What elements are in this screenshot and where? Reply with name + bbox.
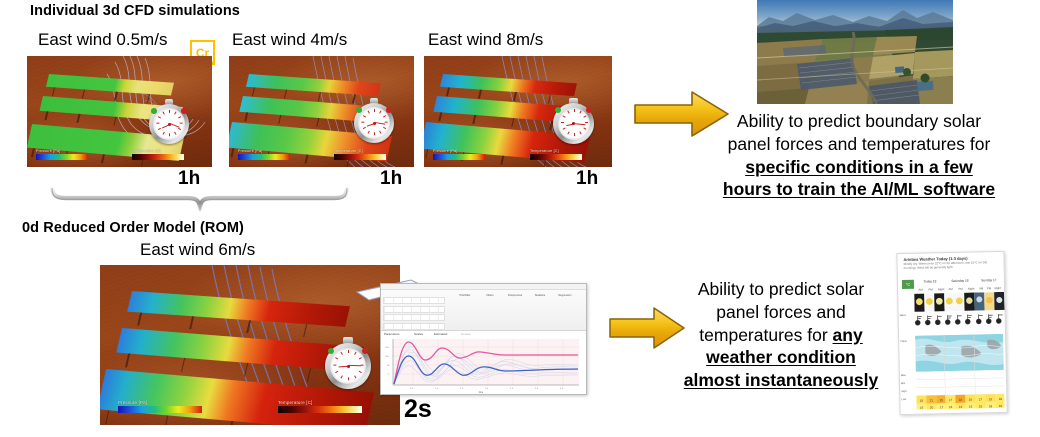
svg-text:-: -	[960, 375, 961, 378]
weather-sky-icons-row	[914, 292, 1004, 314]
svg-text:0: 0	[388, 374, 390, 376]
svg-text:15: 15	[979, 404, 983, 408]
rom-colorbar-pressure: Pressure [Pa]	[118, 400, 202, 413]
outcome-rom-line-4: weather condition	[706, 347, 856, 367]
rom-runtime-label: 2s	[404, 395, 432, 424]
svg-text:Press: Press	[900, 339, 907, 343]
case-label-1: East wind 0.5m/s	[38, 30, 167, 50]
weather-wind-icons-row	[913, 312, 1005, 328]
svg-text:20: 20	[940, 398, 944, 402]
svg-text:1.0: 1.0	[435, 388, 439, 390]
svg-text:-: -	[941, 383, 942, 386]
colorbar-pressure-1: Pressure [Pa]	[36, 149, 88, 160]
weather-day-1: Saturday 18	[946, 279, 974, 284]
svg-text:2.0: 2.0	[485, 388, 489, 390]
cfd-render-3: Pressure [Pa] Temperature [C]	[424, 56, 612, 167]
svg-text:100: 100	[385, 356, 389, 358]
svg-text:Min: Min	[901, 381, 906, 385]
svg-text:-: -	[961, 383, 962, 386]
outcome-rom-line-5: almost instantaneously	[684, 370, 879, 390]
weather-card-subtitle: Mostly dry. Warm (max 22°C on Fri aftern…	[904, 260, 1000, 270]
outcome-rom-line-3: temperatures for	[699, 325, 832, 345]
svg-text:19: 19	[920, 399, 924, 403]
cfd-render-2: Pressure [Pa] Temperature [C]	[229, 56, 414, 167]
weather-period-0-night: Night	[936, 287, 946, 291]
ods-plot-panel: 150100 500 0.51.0 1.52.0 2.53.0 3.5 time	[381, 337, 586, 394]
ods-ribbon-group-0[interactable]: Plot/Filter	[453, 294, 477, 297]
svg-text:-: -	[991, 382, 992, 385]
rom-stopwatch-icon	[325, 343, 371, 389]
weather-period-1-am: AM	[946, 287, 955, 291]
svg-text:3.0: 3.0	[535, 388, 539, 390]
rom-colorbar-temperature-gradient	[278, 406, 362, 413]
weather-forecast-card: Arinbea Weather Today (1-3 days) Mostly …	[896, 251, 1007, 415]
svg-text:2.5: 2.5	[510, 388, 514, 390]
ods-application-window[interactable]: Plot/Filter Filters Postprocess Statisti…	[380, 283, 587, 395]
outcome-rom-line-3-emphasis: any	[833, 325, 863, 345]
colorbar-pressure-label-1: Pressure [Pa]	[36, 149, 88, 153]
svg-text:Wind: Wind	[900, 313, 907, 317]
svg-text:50: 50	[387, 365, 390, 367]
svg-text:Max: Max	[901, 373, 907, 377]
colorbar-temperature-gradient-2	[334, 154, 386, 160]
stopwatch-icon-1	[149, 104, 189, 144]
ods-chart-x-axis-label: time	[479, 391, 484, 394]
outcome-cfd-line-3: specific conditions in a few	[745, 157, 973, 177]
svg-text:-: -	[970, 375, 971, 378]
svg-text:-: -	[951, 383, 952, 386]
colorbar-pressure-gradient-2	[238, 154, 290, 160]
ods-tab-curves[interactable]: Curves	[461, 332, 471, 336]
colorbar-pressure-2: Pressure [Pa]	[238, 149, 290, 160]
colorbar-pressure-gradient-3	[433, 154, 485, 160]
outcome-text-cfd: Ability to predict boundary solar panel …	[700, 110, 1018, 201]
ods-tab-scales[interactable]: Scales	[414, 332, 423, 336]
colorbar-pressure-gradient-1	[36, 154, 88, 160]
svg-text:16: 16	[949, 405, 953, 409]
svg-text:150: 150	[385, 347, 389, 349]
ods-tab-parameters[interactable]: Parameters	[384, 332, 400, 336]
aerial-solar-farm-photo	[757, 0, 953, 104]
weather-period-0-am: AM	[916, 288, 925, 292]
ods-tab-estimated[interactable]: Estimated	[434, 332, 447, 336]
svg-text:-: -	[921, 384, 922, 387]
stopwatch-icon-3	[553, 103, 594, 144]
ods-ribbon-group-4[interactable]: Regression	[553, 294, 577, 297]
svg-text:18: 18	[999, 397, 1003, 401]
rom-colorbar-temperature: Temperature [C]	[278, 400, 362, 413]
colorbar-temperature-label-1: Temperature [C]	[132, 149, 184, 153]
colorbar-temperature-label-3: Temperature [C]	[530, 149, 582, 153]
weather-pressure-map	[915, 334, 1004, 372]
section-title-rom: 0d Reduced Order Model (ROM)	[22, 220, 244, 236]
weather-card-header: Arinbea Weather Today (1-3 days) Mostly …	[903, 255, 999, 270]
ods-ribbon-group-1[interactable]: Filters	[479, 294, 501, 297]
svg-text:0.5: 0.5	[410, 388, 414, 390]
case-label-3: East wind 8m/s	[428, 30, 543, 50]
svg-text:-: -	[950, 375, 951, 378]
ods-response-chart: 150100 500 0.51.0 1.52.0 2.53.0 3.5 time	[381, 337, 586, 394]
colorbar-pressure-label-3: Pressure [Pa]	[433, 149, 485, 153]
svg-text:17: 17	[940, 405, 944, 409]
rom-colorbar-temperature-label: Temperature [C]	[278, 400, 362, 405]
svg-text:-: -	[981, 382, 982, 385]
svg-text:-: -	[990, 374, 991, 377]
colorbar-temperature-2: Temperature [C]	[334, 149, 386, 160]
svg-text:3.5: 3.5	[560, 388, 564, 390]
weather-day-0: Today 18	[916, 279, 944, 284]
svg-text:16: 16	[969, 405, 973, 409]
svg-text:21: 21	[930, 398, 934, 402]
svg-text:-: -	[940, 375, 941, 378]
weather-period-0-pm: PM	[926, 287, 935, 291]
svg-text:-: -	[980, 374, 981, 377]
weather-period-1-night: Night	[966, 286, 976, 290]
ods-ribbon-group-2[interactable]: Postprocess	[503, 294, 527, 297]
svg-text:Low: Low	[901, 397, 906, 401]
weather-day-2: Sunday 17	[976, 278, 1002, 283]
outcome-cfd-line-1: Ability to predict boundary solar	[700, 110, 1018, 133]
svg-text:16: 16	[920, 406, 924, 410]
svg-text:-: -	[1001, 382, 1002, 385]
rom-colorbar-pressure-gradient	[118, 406, 202, 413]
runtime-label-2: 1h	[380, 168, 402, 190]
runtime-label-3: 1h	[576, 168, 598, 190]
svg-text:-: -	[920, 376, 921, 379]
weather-row-captions: Wind Press Max Min High Low	[900, 310, 917, 410]
svg-text:-: -	[971, 383, 972, 386]
colorbar-pressure-3: Pressure [Pa]	[433, 149, 485, 160]
ods-ribbon-group-3[interactable]: Statistics	[529, 294, 551, 297]
svg-text:18: 18	[989, 404, 993, 408]
svg-text:19: 19	[959, 405, 963, 409]
colorbar-temperature-3: Temperature [C]	[530, 149, 582, 160]
section-title-cfd: Individual 3d CFD simulations	[30, 3, 240, 19]
rom-colorbar-pressure-label: Pressure [Pa]	[118, 400, 202, 405]
svg-text:-: -	[1000, 374, 1001, 377]
colorbar-temperature-label-2: Temperature [C]	[334, 149, 386, 153]
outcome-text-rom: Ability to predict solar panel forces an…	[672, 278, 890, 392]
colorbar-temperature-gradient-1	[132, 154, 184, 160]
weather-values-table: --- --- --- --- --- ---	[916, 370, 1005, 410]
weather-period-2-night: Night	[993, 286, 1002, 290]
svg-text:-: -	[931, 383, 932, 386]
case-label-2: East wind 4m/s	[232, 30, 347, 50]
svg-text:1.5: 1.5	[460, 388, 464, 390]
svg-text:High: High	[901, 389, 907, 393]
outcome-rom-line-1: Ability to predict solar	[672, 278, 890, 301]
outcome-cfd-line-4: hours to train the AI/ML software	[723, 179, 995, 199]
outcome-cfd-line-2: panel forces and temperatures for	[700, 133, 1018, 156]
svg-text:-: -	[930, 375, 931, 378]
svg-text:17: 17	[949, 398, 953, 402]
stopwatch-icon-2	[354, 103, 394, 143]
weather-period-2-pm: PM	[985, 286, 993, 290]
colorbar-temperature-gradient-3	[530, 154, 582, 160]
svg-text:19: 19	[969, 398, 973, 402]
colorbar-pressure-label-2: Pressure [Pa]	[238, 149, 290, 153]
svg-text:22: 22	[959, 398, 963, 402]
svg-text:19: 19	[989, 397, 993, 401]
weather-period-1-pm: PM	[956, 287, 965, 291]
ods-ribbon-toolbar[interactable]: Plot/Filter Filters Postprocess Statisti…	[381, 290, 586, 331]
svg-text:16: 16	[999, 404, 1003, 408]
cfd-render-1: Pressure [Pa] Temperature [C]	[27, 56, 212, 167]
rom-case-label: East wind 6m/s	[140, 240, 255, 260]
svg-text:17: 17	[979, 397, 983, 401]
weather-unit-chip[interactable]: °C	[902, 280, 914, 289]
weather-period-2-am: AM	[977, 286, 985, 290]
svg-text:20: 20	[930, 405, 934, 409]
outcome-rom-line-2: panel forces and	[672, 301, 890, 324]
colorbar-temperature-1: Temperature [C]	[132, 149, 184, 160]
